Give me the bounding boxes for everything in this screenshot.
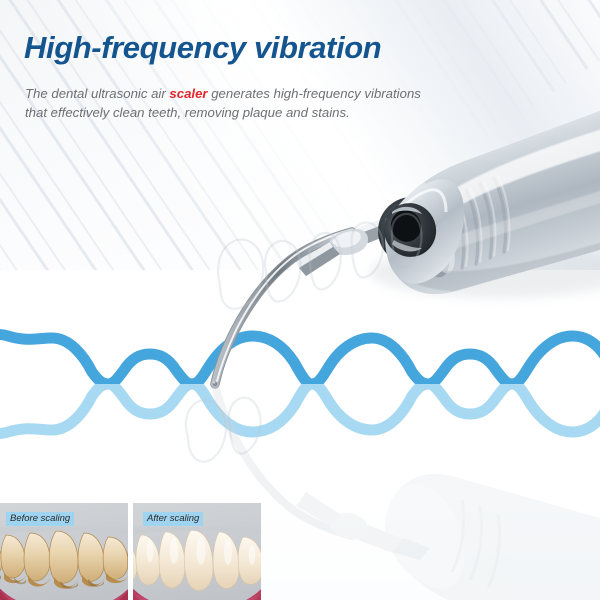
subtitle-text: The dental ultrasonic air scaler generat…: [25, 84, 525, 122]
after-scaling-label: After scaling: [143, 512, 203, 526]
subtitle-part-1: The dental ultrasonic air: [25, 86, 169, 101]
before-teeth-illustration: [0, 527, 128, 600]
after-teeth-illustration: [133, 527, 261, 600]
subtitle-line-2: that effectively clean teeth, removing p…: [25, 105, 350, 120]
before-scaling-label: Before scaling: [6, 512, 74, 526]
product-marketing-image: High-frequency vibration The dental ultr…: [0, 0, 600, 600]
before-scaling-panel[interactable]: Before scaling: [0, 503, 128, 600]
before-after-comparison: Before scaling: [0, 503, 265, 600]
subtitle-highlight-scaler: scaler: [169, 86, 207, 101]
after-scaling-panel[interactable]: After scaling: [133, 503, 261, 600]
page-title: High-frequency vibration: [24, 30, 381, 66]
subtitle-part-2: generates high-frequency vibrations: [208, 86, 421, 101]
